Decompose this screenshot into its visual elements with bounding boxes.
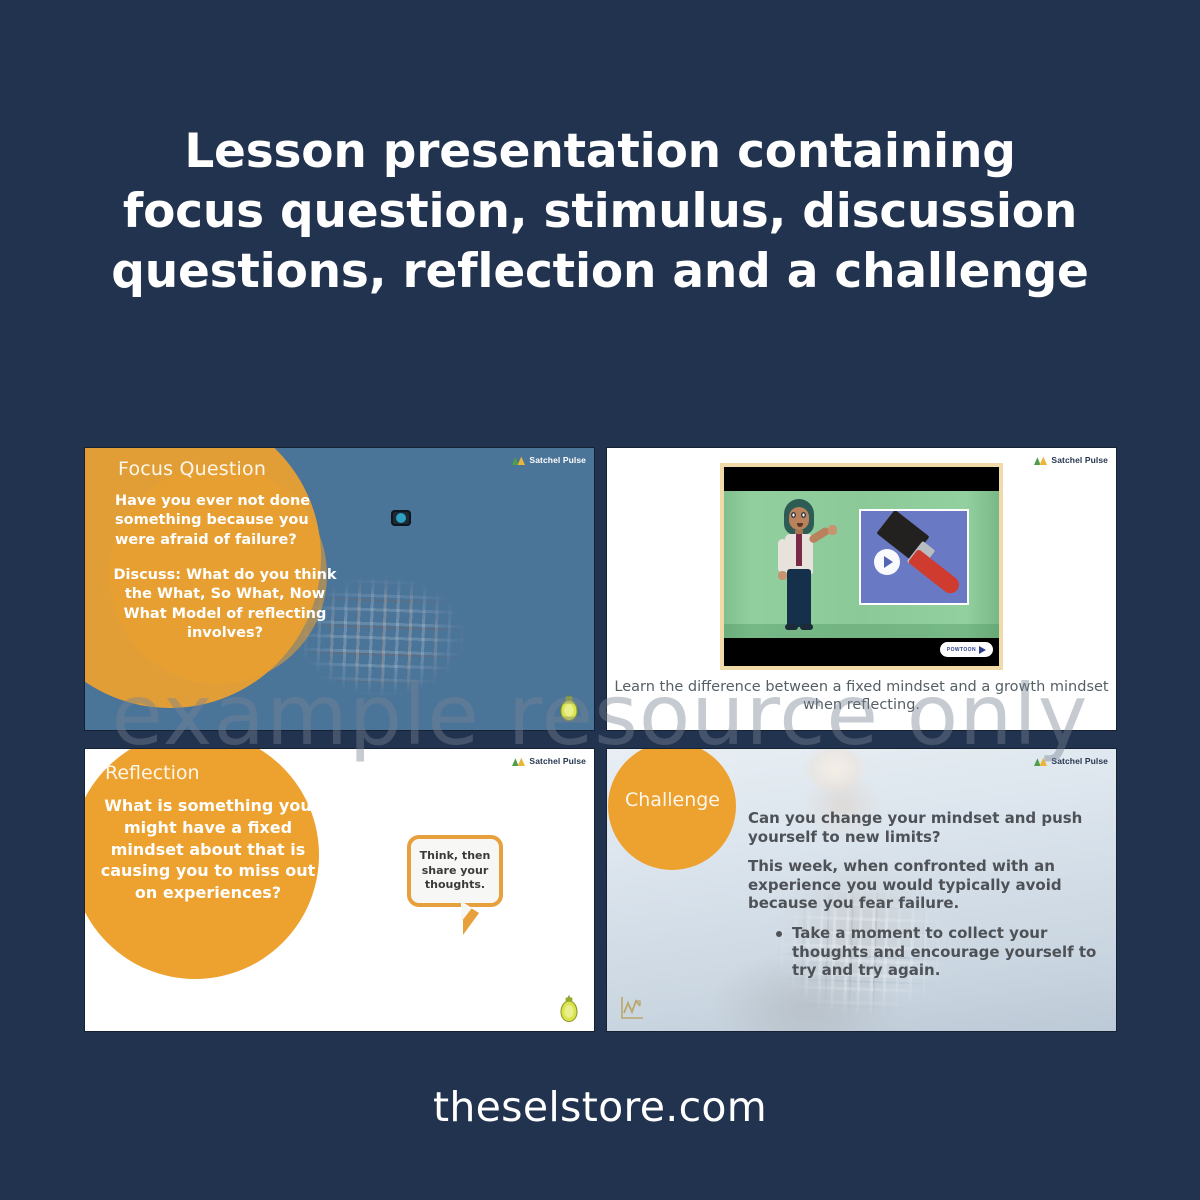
challenge-bullet-list: Take a moment to collect your thoughts a… (748, 924, 1108, 980)
character-arm-left (778, 539, 787, 573)
challenge-body: Can you change your mindset and push you… (748, 809, 1108, 980)
video-thumbnail-frame[interactable]: POWTOON (720, 463, 1003, 670)
reflection-question-text: What is something you might have a fixed… (99, 795, 317, 904)
satchel-pulse-mountain-icon (1034, 757, 1047, 766)
slide-thumbnail-grid: Focus Question Have you ever not done so… (85, 448, 1116, 1031)
promo-graphic: Lesson presentation containing focus que… (0, 0, 1200, 1200)
powtoon-arrow-icon (979, 646, 986, 654)
slide-kicker-focus-question: Focus Question (118, 458, 266, 480)
character-shoe-right (800, 624, 813, 630)
satchel-pulse-mountain-icon (1034, 456, 1047, 465)
satchel-pulse-logo-text: Satchel Pulse (1051, 756, 1108, 766)
character-legs (787, 569, 811, 627)
satchel-pulse-logo-text: Satchel Pulse (1051, 455, 1108, 465)
play-button-icon[interactable] (874, 549, 900, 575)
powtoon-badge-text: POWTOON (947, 647, 976, 653)
pear-icon (558, 694, 580, 722)
satchel-pulse-logo: Satchel Pulse (512, 455, 586, 465)
satchel-pulse-mountain-icon (512, 757, 525, 766)
challenge-paragraph-2: This week, when confronted with an exper… (748, 857, 1108, 913)
satchel-pulse-logo-text: Satchel Pulse (529, 455, 586, 465)
character-shoe-left (785, 624, 798, 630)
video-letterbox: POWTOON (724, 467, 999, 666)
speech-bubble: Think, then share your thoughts. (407, 835, 503, 907)
page-title-line-2: focus question, stimulus, discussion (0, 182, 1200, 242)
page-title-line-3: questions, reflection and a challenge (0, 242, 1200, 302)
satchel-pulse-logo: Satchel Pulse (1034, 756, 1108, 766)
satchel-pulse-logo: Satchel Pulse (1034, 455, 1108, 465)
character-hand-right (828, 525, 837, 535)
slide-challenge[interactable]: Challenge Can you change your mindset an… (607, 749, 1116, 1031)
slide-stimulus-video[interactable]: POWTOON Learn the difference between a f… (607, 448, 1116, 730)
slide-kicker-reflection: Reflection (105, 762, 200, 784)
satchel-pulse-logo: Satchel Pulse (512, 756, 586, 766)
page-title-line-1: Lesson presentation containing (0, 122, 1200, 182)
slide-focus-question[interactable]: Focus Question Have you ever not done so… (85, 448, 594, 730)
challenge-bullet-1: Take a moment to collect your thoughts a… (776, 924, 1108, 980)
animated-presenter-character (776, 499, 822, 629)
satchel-pulse-mountain-icon (512, 456, 525, 465)
character-hand-left (778, 571, 787, 580)
powtoon-badge: POWTOON (940, 642, 993, 657)
slide-reflection[interactable]: Reflection What is something you might h… (85, 749, 594, 1031)
pear-icon (558, 995, 580, 1023)
paintbrush-handle (908, 549, 963, 597)
page-title: Lesson presentation containing focus que… (0, 122, 1200, 302)
speech-bubble-text: Think, then share your thoughts. (411, 839, 499, 903)
focus-question-text: Have you ever not done something because… (115, 492, 335, 550)
focus-discuss-text: Discuss: What do you think the What, So … (107, 566, 343, 643)
satchel-pulse-logo-text: Satchel Pulse (529, 756, 586, 766)
slide-kicker-challenge: Challenge (625, 789, 720, 811)
video-inner-panel (859, 509, 969, 605)
line-chart-icon (619, 995, 645, 1021)
wristwatch-detail (391, 510, 411, 526)
speech-bubble-tail-inner (461, 901, 472, 922)
character-tie (796, 534, 802, 566)
challenge-paragraph-1: Can you change your mindset and push you… (748, 809, 1108, 846)
character-eye-right (801, 512, 806, 518)
footer-url: theselstore.com (0, 1083, 1200, 1131)
character-eye-left (791, 512, 796, 518)
video-caption: Learn the difference between a fixed min… (613, 679, 1110, 715)
